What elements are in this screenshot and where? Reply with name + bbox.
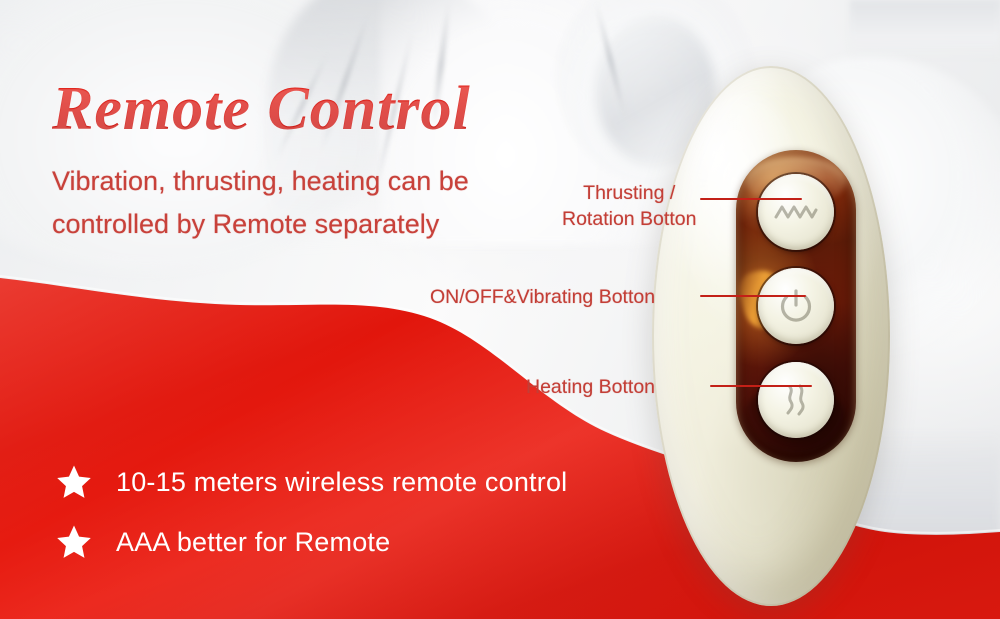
background-top-edge: [850, 0, 1000, 60]
callout-thrusting-line-2: Rotation Botton: [562, 206, 696, 232]
zigzag-wave-icon: [773, 201, 819, 223]
power-vibrating-button[interactable]: [758, 268, 834, 344]
leader-line-power: [700, 295, 806, 297]
callout-thrusting-rotation: Thrusting / Rotation Botton: [562, 180, 696, 232]
page-title: Remote Control: [52, 74, 471, 145]
product-banner: Remote Control Vibration, thrusting, hea…: [0, 0, 1000, 619]
star-icon: [54, 522, 94, 562]
leader-line-heating: [710, 385, 812, 387]
feature-text: 10-15 meters wireless remote control: [116, 467, 567, 498]
subtitle-line-1: Vibration, thrusting, heating can be: [52, 160, 469, 203]
power-icon: [776, 286, 816, 326]
heating-button[interactable]: [758, 362, 834, 438]
callout-heating: Heating Botton: [526, 374, 655, 400]
star-icon: [54, 462, 94, 502]
feature-text: AAA better for Remote: [116, 527, 390, 558]
callout-onoff-vibrating: ON/OFF&Vibrating Botton: [430, 284, 655, 310]
list-item: 10-15 meters wireless remote control: [54, 452, 634, 512]
remote-control-device: [652, 66, 890, 606]
list-item: AAA better for Remote: [54, 512, 634, 572]
device-button-panel: [736, 150, 856, 462]
callout-thrusting-line-1: Thrusting /: [562, 180, 696, 206]
subtitle: Vibration, thrusting, heating can be con…: [52, 160, 469, 246]
feature-list: 10-15 meters wireless remote control AAA…: [54, 452, 634, 572]
thrusting-rotation-button[interactable]: [758, 174, 834, 250]
subtitle-line-2: controlled by Remote separately: [52, 203, 469, 246]
leader-line-thrusting: [700, 198, 802, 200]
